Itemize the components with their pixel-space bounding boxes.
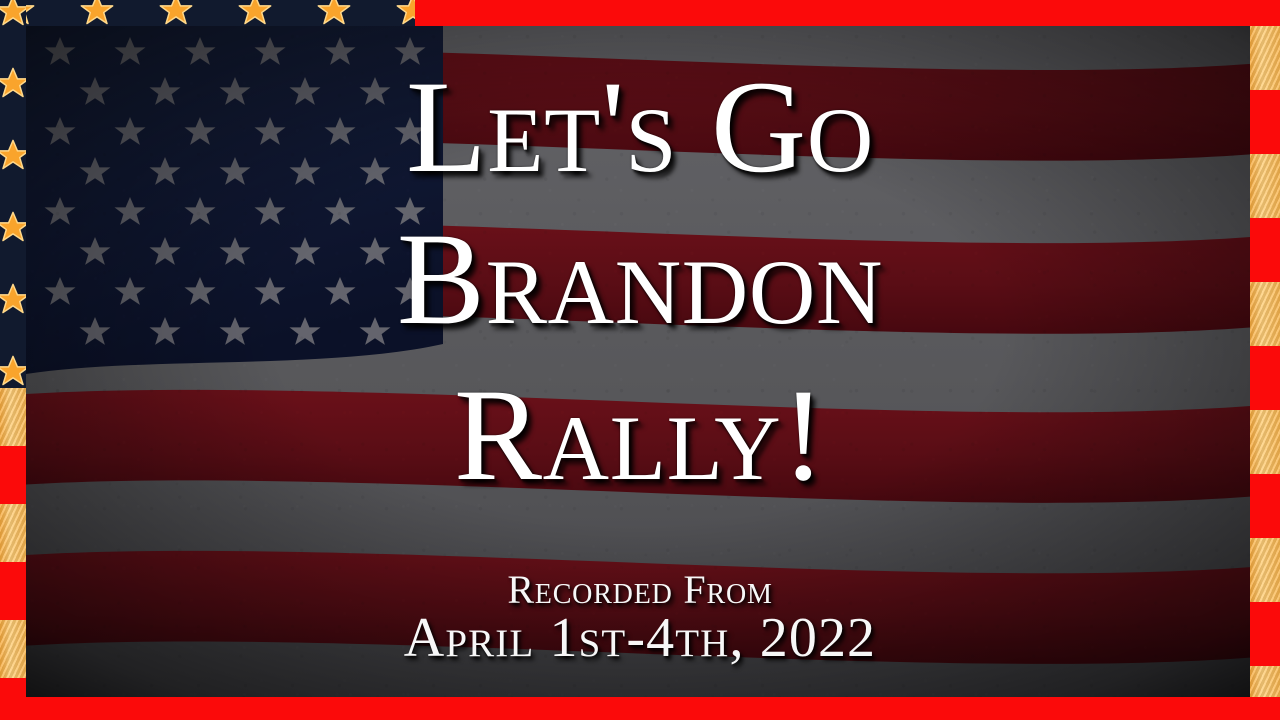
border-red-stripe [1250, 90, 1280, 154]
border-gold-stripe [0, 620, 26, 678]
border-gold-star-icon [159, 0, 193, 26]
border-gold-star-icon [0, 67, 26, 106]
border-gold-star-icon [238, 0, 272, 26]
border-red-stripe [1250, 474, 1280, 538]
border-gold-star-icon [317, 0, 351, 26]
border-left-stripes [0, 388, 26, 720]
flag-canton [26, 26, 443, 374]
border-gold-star-icon [396, 0, 415, 26]
border-gold-star-icon [0, 355, 26, 389]
title-card: Let's Go Brandon Rally! Recorded From Ap… [0, 0, 1280, 720]
border-red-stripe [0, 562, 26, 620]
border-gold-stripe [1250, 154, 1280, 218]
border-red-stripe [1250, 218, 1280, 282]
border-gold-star-icon [0, 139, 26, 178]
border-red-stripe [1250, 346, 1280, 410]
border-right-stripes [1250, 26, 1280, 697]
border-bottom-red-bar [0, 697, 1280, 720]
border-gold-star-icon [0, 283, 26, 322]
border-gold-stripe [1250, 538, 1280, 602]
border-gold-stripe [1250, 282, 1280, 346]
border-gold-stripe [1250, 26, 1280, 90]
border-gold-stripe [1250, 410, 1280, 474]
border-left-canton [0, 0, 26, 388]
border-top-canton [0, 0, 415, 26]
border-red-stripe [0, 678, 26, 720]
border-red-stripe [0, 446, 26, 504]
border-gold-stripe [0, 388, 26, 446]
border-gold-star-icon [80, 0, 114, 26]
border-gold-stripe [1250, 666, 1280, 697]
flag-background [26, 26, 1250, 697]
border-top-red-bar [415, 0, 1280, 26]
border-gold-stripe [0, 504, 26, 562]
border-gold-star-icon [0, 0, 26, 34]
border-red-stripe [1250, 602, 1280, 666]
border-gold-star-icon [0, 211, 26, 250]
